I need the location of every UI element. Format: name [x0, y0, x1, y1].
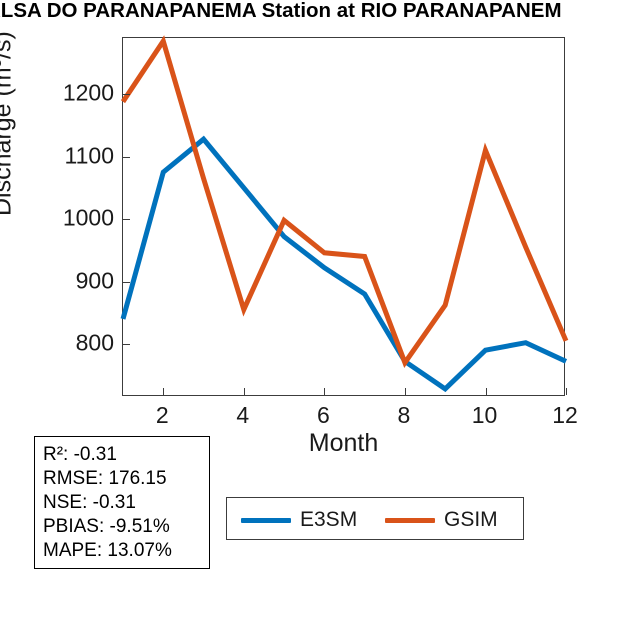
- y-tick-label-900: 900: [44, 267, 114, 294]
- chart-legend[interactable]: E3SM GSIM: [226, 497, 524, 540]
- legend-label-gsim: GSIM: [444, 508, 498, 532]
- stat-rmse: RMSE: 176.15: [43, 467, 201, 491]
- x-tick-4: [244, 388, 245, 395]
- stat-pbias: PBIAS: -9.51%: [43, 515, 201, 539]
- x-tick-label-6: 6: [317, 402, 330, 429]
- x-tick-label-4: 4: [236, 402, 249, 429]
- x-tick-label-2: 2: [156, 402, 169, 429]
- y-axis-label-prefix: Discharge (m: [0, 67, 16, 216]
- stat-r2: R²: -0.31: [43, 443, 201, 467]
- y-axis-label-suffix: /s): [0, 31, 16, 59]
- stat-mape: MAPE: 13.07%: [43, 539, 201, 563]
- y-tick-1000: [123, 219, 130, 220]
- x-tick-label-12: 12: [552, 402, 578, 429]
- series-line-e3sm: [123, 139, 566, 389]
- y-axis-label: Discharge (m3/s): [0, 31, 17, 216]
- y-tick-label-1000: 1000: [44, 205, 114, 232]
- chart-title-text: ALSA DO PARANAPANEMA Station at RIO PARA…: [0, 0, 562, 23]
- legend-line-e3sm: [241, 518, 291, 523]
- y-tick-1200: [123, 94, 130, 95]
- y-tick-label-1200: 1200: [44, 80, 114, 107]
- y-tick-900: [123, 282, 130, 283]
- legend-item-e3sm[interactable]: E3SM: [241, 508, 357, 532]
- series-line-gsim: [123, 41, 566, 363]
- series-svg: [123, 38, 566, 397]
- y-tick-label-800: 800: [44, 329, 114, 356]
- legend-line-gsim: [385, 518, 435, 523]
- plot-area: [123, 38, 564, 395]
- x-tick-6: [324, 388, 325, 395]
- x-tick-12: [566, 388, 567, 395]
- chart-figure: ALSA DO PARANAPANEMA Station at RIO PARA…: [0, 0, 625, 625]
- x-tick-8: [405, 388, 406, 395]
- legend-label-e3sm: E3SM: [300, 508, 357, 532]
- stat-nse: NSE: -0.31: [43, 491, 201, 515]
- x-tick-10: [486, 388, 487, 395]
- y-tick-label-1100: 1100: [44, 142, 114, 169]
- x-tick-2: [163, 388, 164, 395]
- statistics-box: R²: -0.31 RMSE: 176.15 NSE: -0.31 PBIAS:…: [34, 436, 210, 569]
- chart-title: ALSA DO PARANAPANEMA Station at RIO PARA…: [0, 0, 625, 30]
- y-tick-800: [123, 344, 130, 345]
- legend-item-gsim[interactable]: GSIM: [385, 508, 498, 532]
- plot-axes: [122, 37, 565, 396]
- y-tick-1100: [123, 157, 130, 158]
- x-tick-label-8: 8: [397, 402, 410, 429]
- x-tick-label-10: 10: [472, 402, 498, 429]
- y-axis-label-exponent: 3: [0, 59, 5, 67]
